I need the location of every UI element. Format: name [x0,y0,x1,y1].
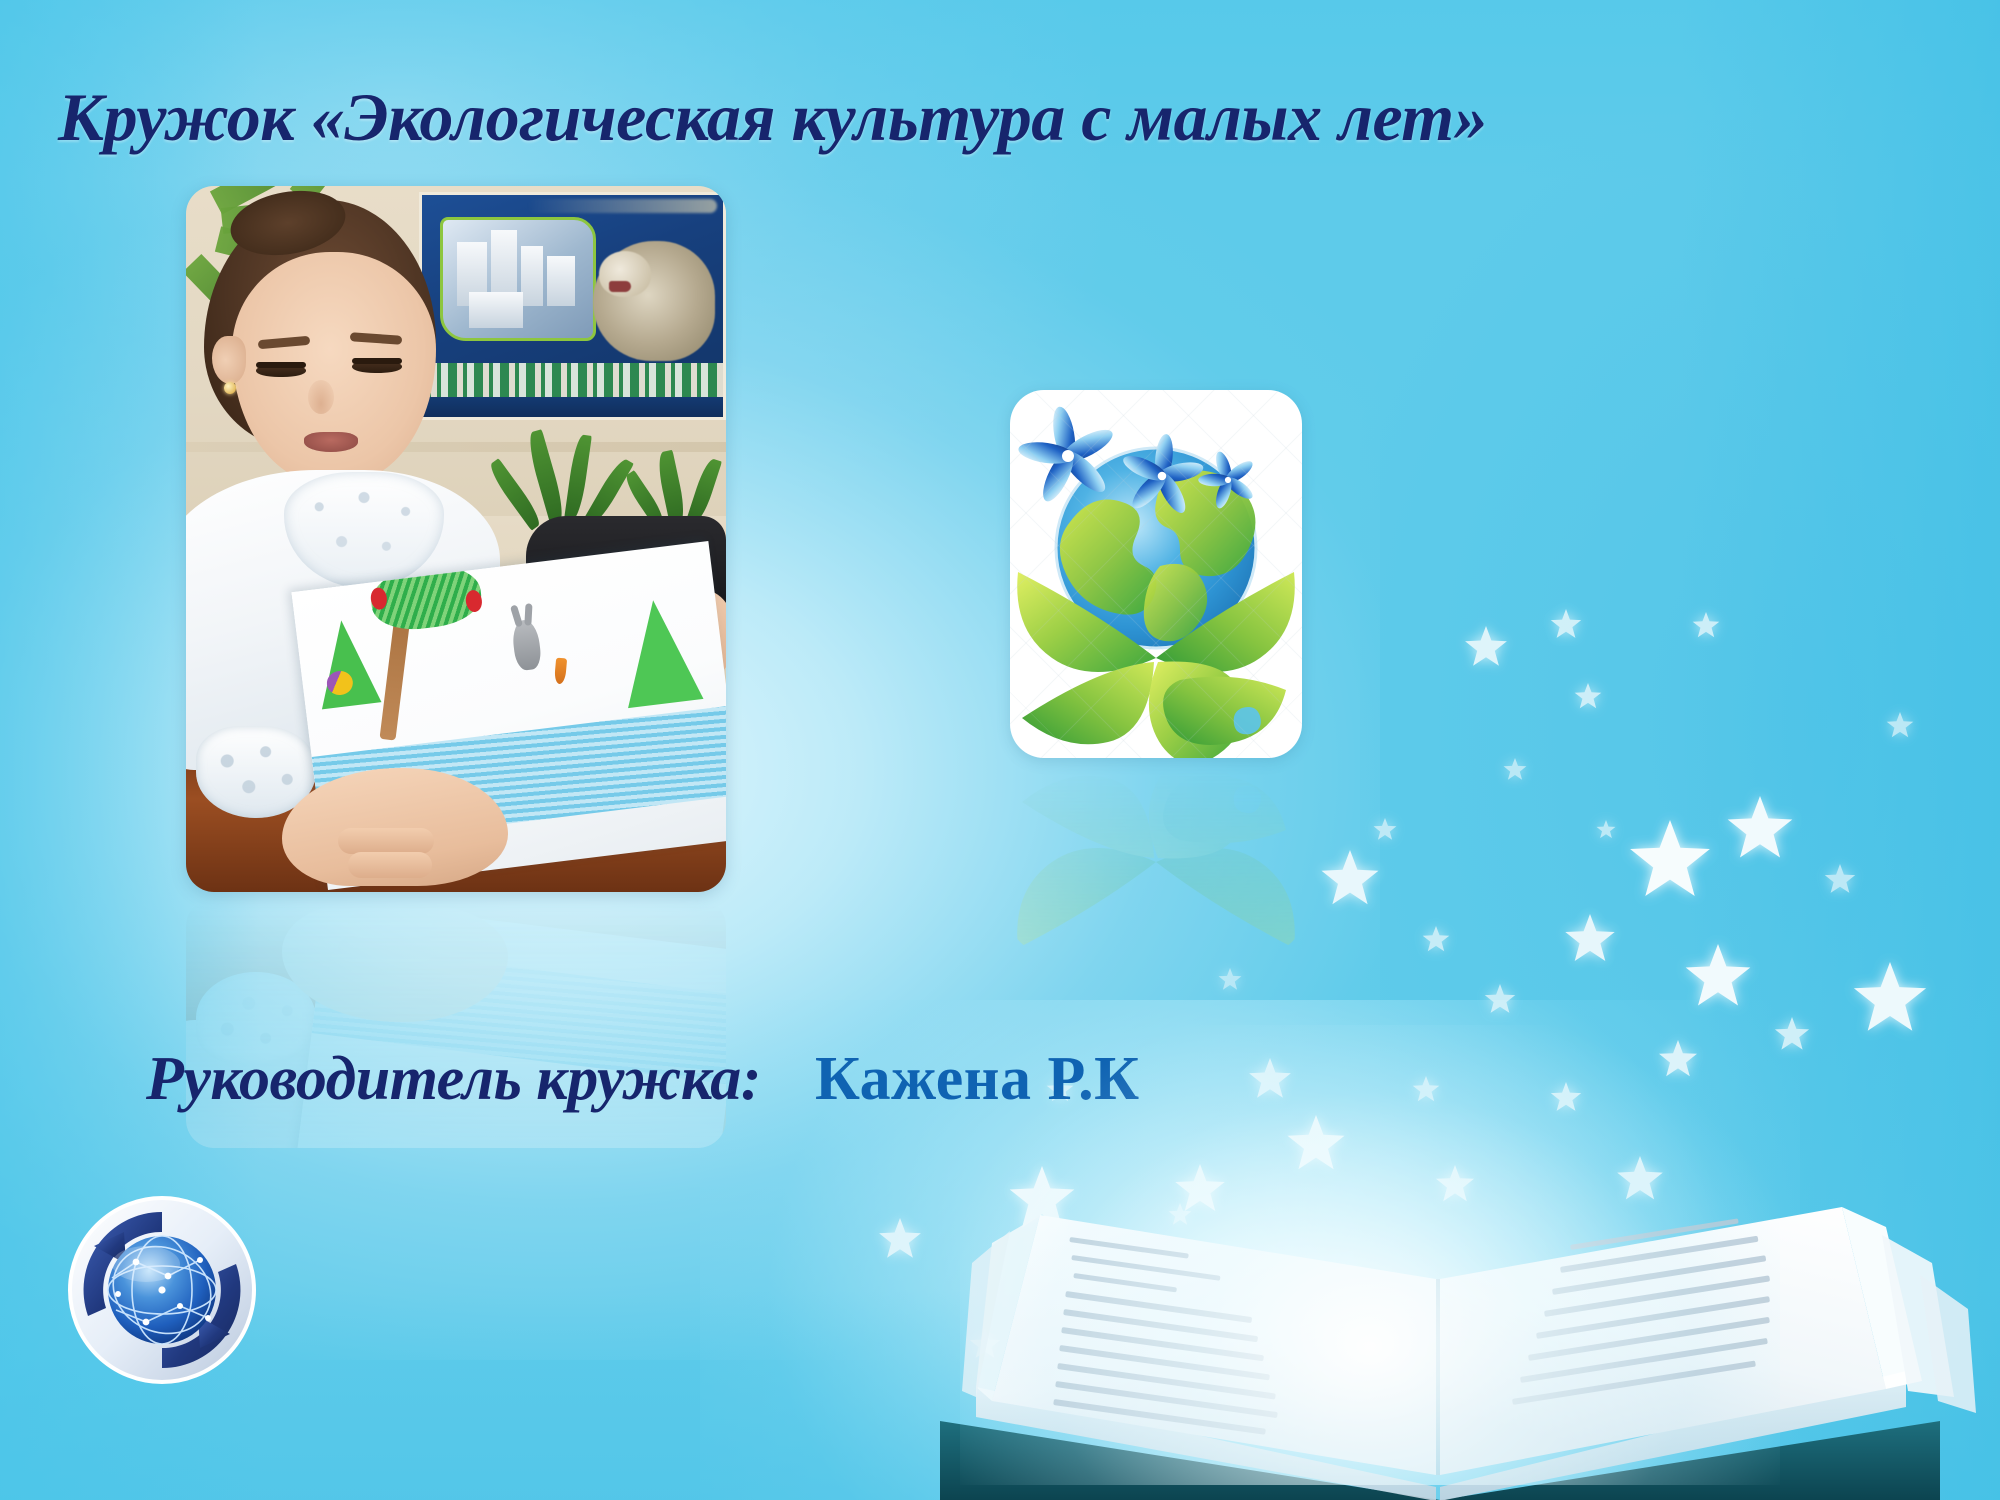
star-icon [1852,962,1928,1038]
star-icon [1550,609,1582,641]
star-icon [1726,796,1794,864]
poster-map-shape [440,217,596,341]
drawing-rabbit [511,619,543,672]
star-icon [1503,758,1527,782]
star-icon [1596,820,1616,840]
photo-block [186,186,726,892]
poster-bottom-band [422,397,723,417]
drawing-carrot [554,658,567,685]
drawing-fir-right [615,596,703,708]
open-book-icon [880,1175,2000,1500]
drawing-fir-left [311,617,381,710]
poster-snow-leopard [593,241,715,361]
background-glow-right [1360,120,2000,1320]
photo-scene [186,186,726,892]
star-icon [1484,984,1516,1016]
star-icon [1824,864,1856,896]
subtitle-line: Руководитель кружка:Кажена Р.К [146,1048,1846,1110]
slide-title: Кружок «Экологическая культура с малых л… [58,78,1858,157]
star-icon [1564,914,1616,966]
poster-caption-blur [527,199,717,213]
star-icon [1218,968,1242,992]
organization-logo [62,1190,262,1390]
eco-logo-reflection [1010,762,1302,952]
child-photo [186,186,726,892]
eco-logo-block [1010,390,1302,758]
leopard-head [599,251,651,297]
poster-kazakhstan [419,192,726,420]
star-icon [1464,626,1508,670]
open-book-illustration [880,1175,2000,1500]
star-icon [1574,683,1602,711]
star-icon [1692,612,1720,640]
leopard-mouth [609,281,631,292]
star-icon [1684,944,1752,1012]
star-icon [1886,712,1914,740]
star-icon [1628,820,1712,904]
star-icon [1320,850,1380,910]
eco-watermark [1010,390,1302,758]
girl-ear [212,336,246,384]
poster-ornament-band [422,363,723,397]
star-icon [1422,926,1450,954]
star-icon [1373,818,1397,842]
presentation-slide: Кружок «Экологическая культура с малых л… [0,0,2000,1500]
girl-earring [224,382,236,394]
network-globe-icon [62,1190,262,1390]
teacher-name: Кажена Р.К [815,1045,1140,1113]
subtitle-label: Руководитель кружка: [146,1045,761,1113]
star-icon [1286,1115,1346,1175]
book-page-left [992,1215,1436,1475]
eco-logo-card [1010,390,1302,758]
